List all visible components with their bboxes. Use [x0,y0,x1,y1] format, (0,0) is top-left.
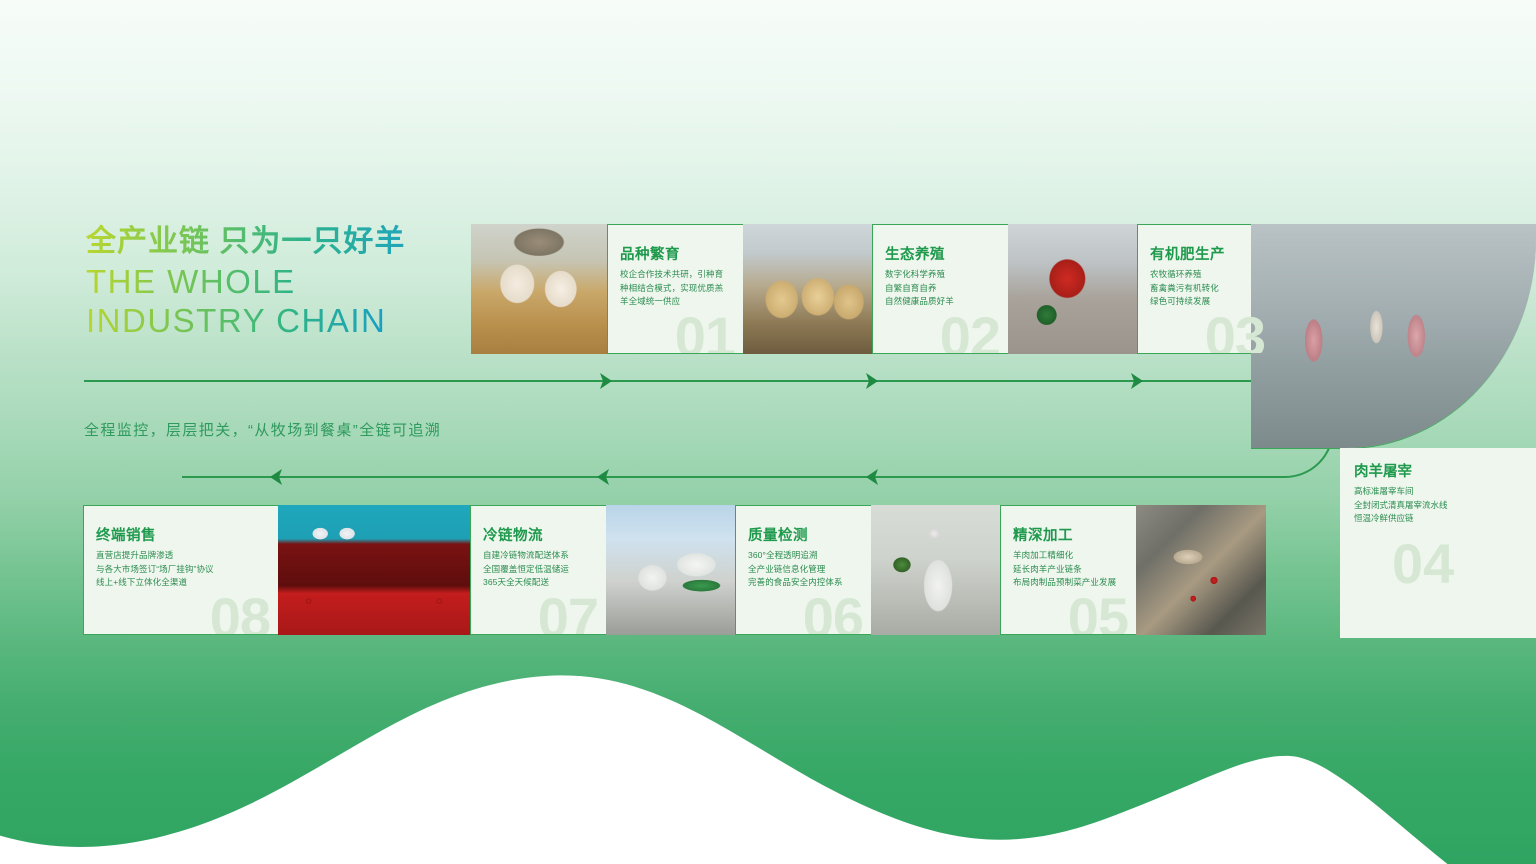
desc-line: 自然健康品质好羊 [885,295,954,309]
desc-line: 畜禽粪污有机转化 [1150,282,1219,296]
desc-line: 自建冷链物流配送体系 [483,549,569,563]
page-title: 全产业链 只为一只好羊 THE WHOLE INDUSTRY CHAIN [86,222,466,340]
desc-line: 羊肉加工精细化 [1013,549,1116,563]
arrow-right-icon [866,373,878,389]
step-description: 羊肉加工精细化 延长肉羊产业链条 布局肉制品预制菜产业发展 [1013,549,1116,590]
desc-line: 全国覆盖恒定低温储运 [483,563,569,577]
step-title: 终端销售 [96,524,156,545]
step-number: 05 [1068,590,1128,635]
desc-line: 线上+线下立体化全渠道 [96,576,214,590]
infographic-canvas: 全产业链 只为一只好羊 THE WHOLE INDUSTRY CHAIN 全程监… [0,0,1536,864]
step-description: 直营店提升品牌渗透 与各大市场签订“场厂挂钩”协议 线上+线下立体化全渠道 [96,549,214,590]
desc-line: 与各大市场签订“场厂挂钩”协议 [96,563,214,577]
step-description: 数字化科学养殖 自繁自育自养 自然健康品质好羊 [885,268,954,309]
desc-line: 校企合作技术共研，引种育 [620,268,723,282]
desc-line: 全产业链信息化管理 [748,563,843,577]
step-card-01[interactable]: 品种繁育 校企合作技术共研，引种育 种相结合模式，实现优质羔 羊全域统一供应 0… [607,224,743,354]
step-description: 360°全程透明追溯 全产业链信息化管理 完善的食品安全内控体系 [748,549,843,590]
desc-line: 羊全域统一供应 [620,295,723,309]
title-chinese: 全产业链 只为一只好羊 [86,222,466,262]
fertilizer-machine-photo [1008,224,1137,354]
step-description: 校企合作技术共研，引种育 种相结合模式，实现优质羔 羊全域统一供应 [620,268,723,309]
wave-band [0,675,1536,864]
decorative-wave [0,604,1536,864]
arrow-right-icon [600,373,612,389]
desc-line: 数字化科学养殖 [885,268,954,282]
desc-line: 直营店提升品牌渗透 [96,549,214,563]
desc-line: 恒温冷鲜供应链 [1354,512,1448,526]
arrow-left-icon [597,469,609,485]
arrow-left-icon [866,469,878,485]
sheep-barn-photo [743,224,872,354]
desc-line: 自繁自育自养 [885,282,954,296]
step-title: 品种繁育 [620,243,680,264]
step-number: 03 [1205,309,1265,354]
step-number: 08 [210,590,270,635]
arrow-left-icon [270,469,282,485]
step-number: 06 [803,590,863,635]
step-photo-01 [471,224,607,354]
step-title: 质量检测 [748,524,808,545]
step-photo-04-curved-wrap [1251,224,1536,449]
desc-line: 完善的食品安全内控体系 [748,576,843,590]
lambs-in-pen-photo [471,224,607,354]
title-english-line-1: THE WHOLE [86,262,466,301]
step-title: 有机肥生产 [1150,243,1225,264]
step-title: 精深加工 [1013,524,1073,545]
title-english-line-2: INDUSTRY CHAIN [86,301,466,340]
step-number: 01 [675,309,735,354]
step-number: 04 [1392,536,1454,592]
slaughter-line-photo [1251,224,1536,448]
desc-line: 360°全程透明追溯 [748,549,843,563]
desc-line: 高标准屠宰车间 [1354,485,1448,499]
desc-line: 延长肉羊产业链条 [1013,563,1116,577]
step-description: 农牧循环养殖 畜禽粪污有机转化 绿色可持续发展 [1150,268,1219,309]
step-photo-02 [743,224,872,354]
desc-line: 种相结合模式，实现优质羔 [620,282,723,296]
step-card-02[interactable]: 生态养殖 数字化科学养殖 自繁自育自养 自然健康品质好羊 02 [872,224,1008,354]
step-title: 生态养殖 [885,243,945,264]
desc-line: 绿色可持续发展 [1150,295,1219,309]
desc-line: 365天全天候配送 [483,576,569,590]
step-number: 07 [538,590,598,635]
step-row-top: 品种繁育 校企合作技术共研，引种育 种相结合模式，实现优质羔 羊全域统一供应 0… [471,224,1273,354]
step-number: 02 [940,309,1000,354]
step-photo-03 [1008,224,1137,354]
step-description: 自建冷链物流配送体系 全国覆盖恒定低温储运 365天全天候配送 [483,549,569,590]
desc-line: 布局肉制品预制菜产业发展 [1013,576,1116,590]
step-description: 高标准屠宰车间 全封闭式清真屠宰流水线 恒温冷鲜供应链 [1354,485,1448,526]
subtitle-text: 全程监控，层层把关，“从牧场到餐桌”全链可追溯 [84,419,441,440]
step-title: 肉羊屠宰 [1354,460,1412,481]
desc-line: 全封闭式清真屠宰流水线 [1354,499,1448,513]
desc-line: 农牧循环养殖 [1150,268,1219,282]
arrow-right-icon [1131,373,1143,389]
step-title: 冷链物流 [483,524,543,545]
